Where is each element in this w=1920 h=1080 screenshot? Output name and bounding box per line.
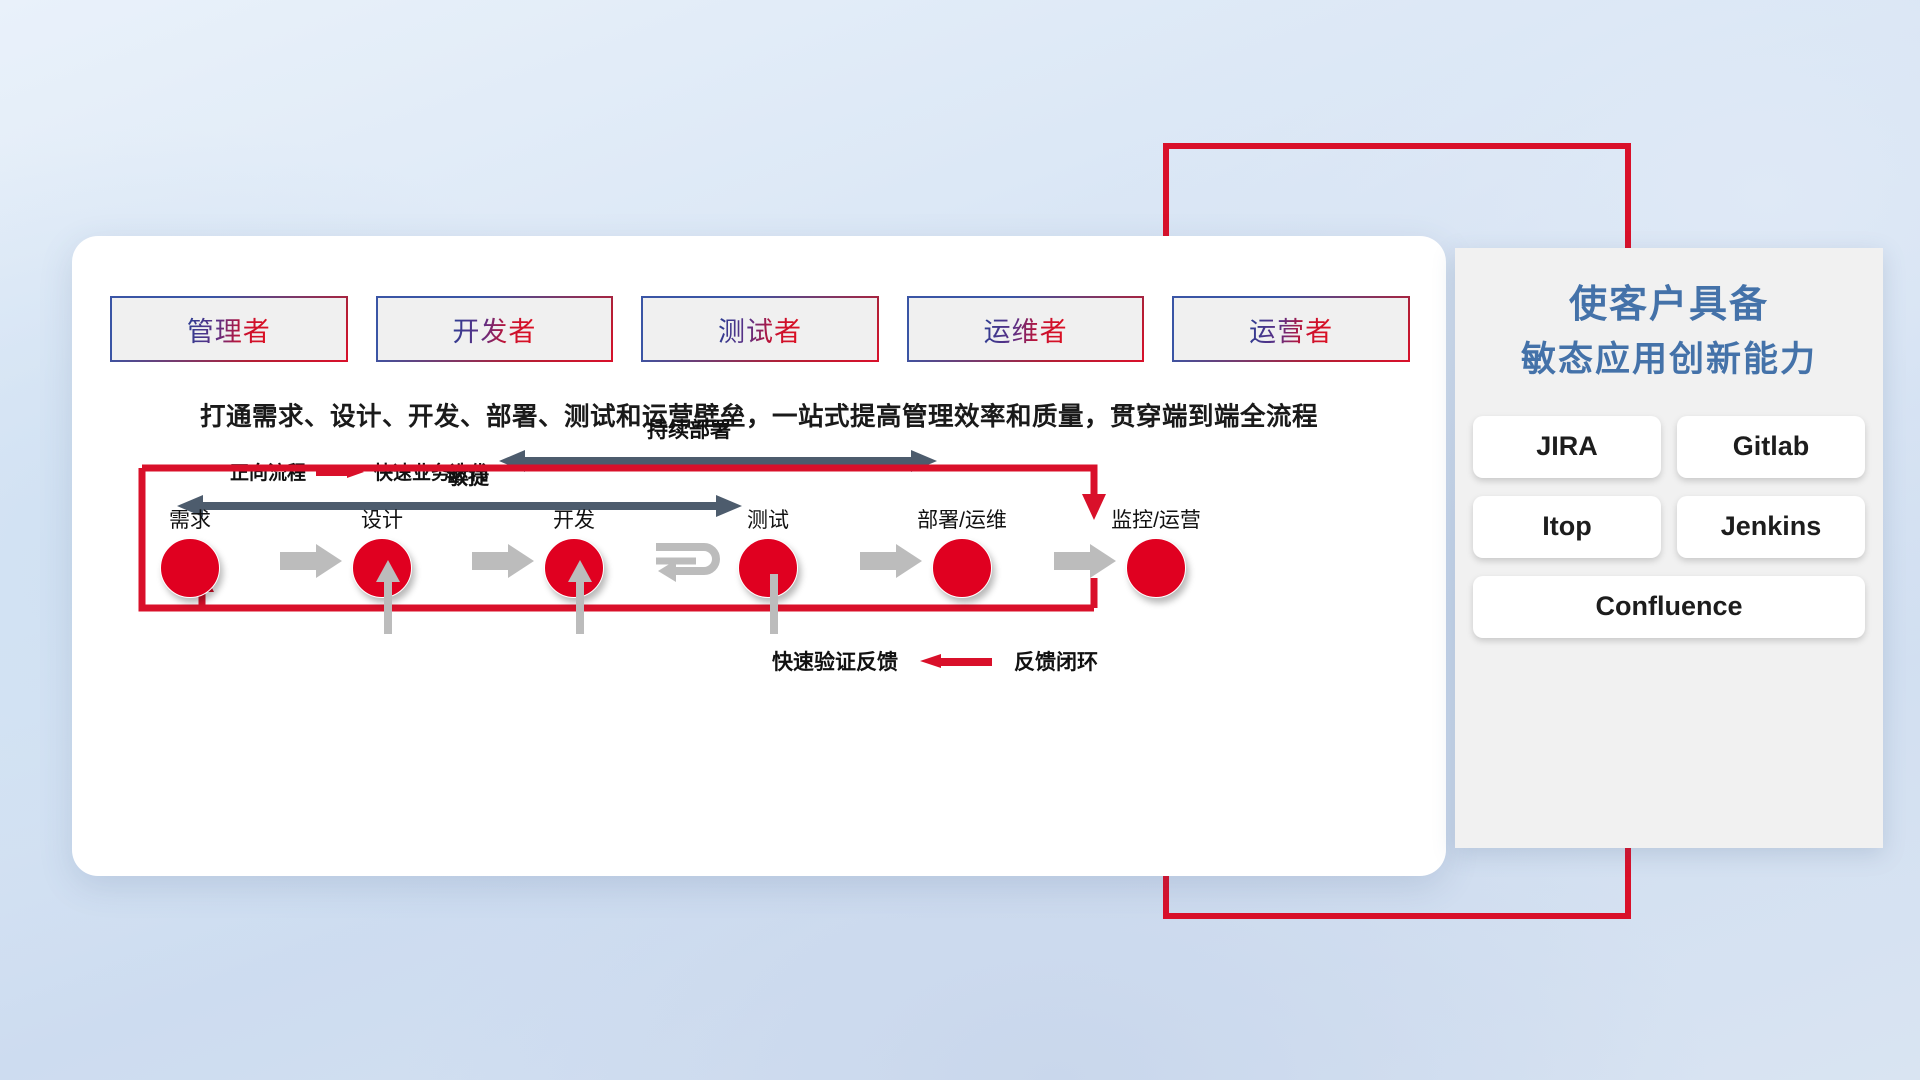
feedback-loop-legend: 快速验证反馈 反馈闭环: [772, 646, 1098, 676]
role-box-ops[interactable]: 运维者: [907, 296, 1145, 362]
stage-label: 设计: [322, 504, 442, 534]
stage-label: 部署/运维: [902, 504, 1022, 534]
role-box-manager[interactable]: 管理者: [110, 296, 348, 362]
value-proposition-panel: 使客户具备 敏态应用创新能力 JIRA Gitlab Itop Jenkins …: [1455, 248, 1883, 848]
tool-label: Confluence: [1595, 591, 1742, 622]
role-label: 运维者: [984, 310, 1068, 349]
description-text: 打通需求、设计、开发、部署、测试和运营壁垒，一站式提高管理效率和质量，贯穿端到端…: [72, 396, 1446, 433]
panel-title-line1: 使客户具备: [1455, 278, 1883, 333]
role-box-row: 管理者 开发者 测试者 运维者 运营者: [110, 296, 1410, 362]
panel-title-line2: 敏态应用创新能力: [1455, 335, 1883, 386]
role-box-operator[interactable]: 运营者: [1172, 296, 1410, 362]
tool-label: Jenkins: [1721, 511, 1822, 542]
stage-label: 监控/运营: [1096, 504, 1216, 534]
main-content-card: 管理者 开发者 测试者 运维者 运营者 打通需求、设计、开发、部署、测试和运营壁…: [72, 236, 1446, 876]
continuous-deployment-double-arrow-icon: [499, 449, 937, 473]
forward-flow-label: 正向流程: [230, 458, 306, 485]
role-box-developer[interactable]: 开发者: [376, 296, 614, 362]
tool-chip-confluence[interactable]: Confluence: [1473, 576, 1865, 638]
tool-label: Gitlab: [1733, 431, 1810, 462]
red-right-arrow-icon: [316, 466, 364, 478]
stage-risers: [112, 556, 1412, 636]
tool-label: JIRA: [1536, 431, 1598, 462]
tool-chip-gitlab[interactable]: Gitlab: [1677, 416, 1865, 478]
tool-chip-jira[interactable]: JIRA: [1473, 416, 1661, 478]
feedback-closed-loop-label: 反馈闭环: [1014, 646, 1098, 676]
stage-label: 开发: [514, 504, 634, 534]
tool-chip-grid: JIRA Gitlab Itop Jenkins Confluence: [1473, 416, 1865, 638]
tool-chip-jenkins[interactable]: Jenkins: [1677, 496, 1865, 558]
role-box-tester[interactable]: 测试者: [641, 296, 879, 362]
devops-pipeline: 需求 设计 开发: [112, 504, 1412, 624]
agile-label: 敏捷: [447, 461, 489, 491]
fast-validation-label: 快速验证反馈: [772, 646, 898, 676]
slide-canvas: 管理者 开发者 测试者 运维者 运营者 打通需求、设计、开发、部署、测试和运营壁…: [0, 0, 1920, 1080]
role-label: 开发者: [452, 310, 536, 349]
continuous-deployment-label: 持续部署: [647, 414, 731, 444]
stage-label: 测试: [708, 504, 828, 534]
tool-label: Itop: [1542, 511, 1591, 542]
tool-chip-itop[interactable]: Itop: [1473, 496, 1661, 558]
role-label: 管理者: [187, 310, 271, 349]
role-label: 测试者: [718, 310, 802, 349]
stage-label: 需求: [130, 504, 250, 534]
role-label: 运营者: [1249, 310, 1333, 349]
red-left-arrow-icon: [920, 654, 992, 668]
